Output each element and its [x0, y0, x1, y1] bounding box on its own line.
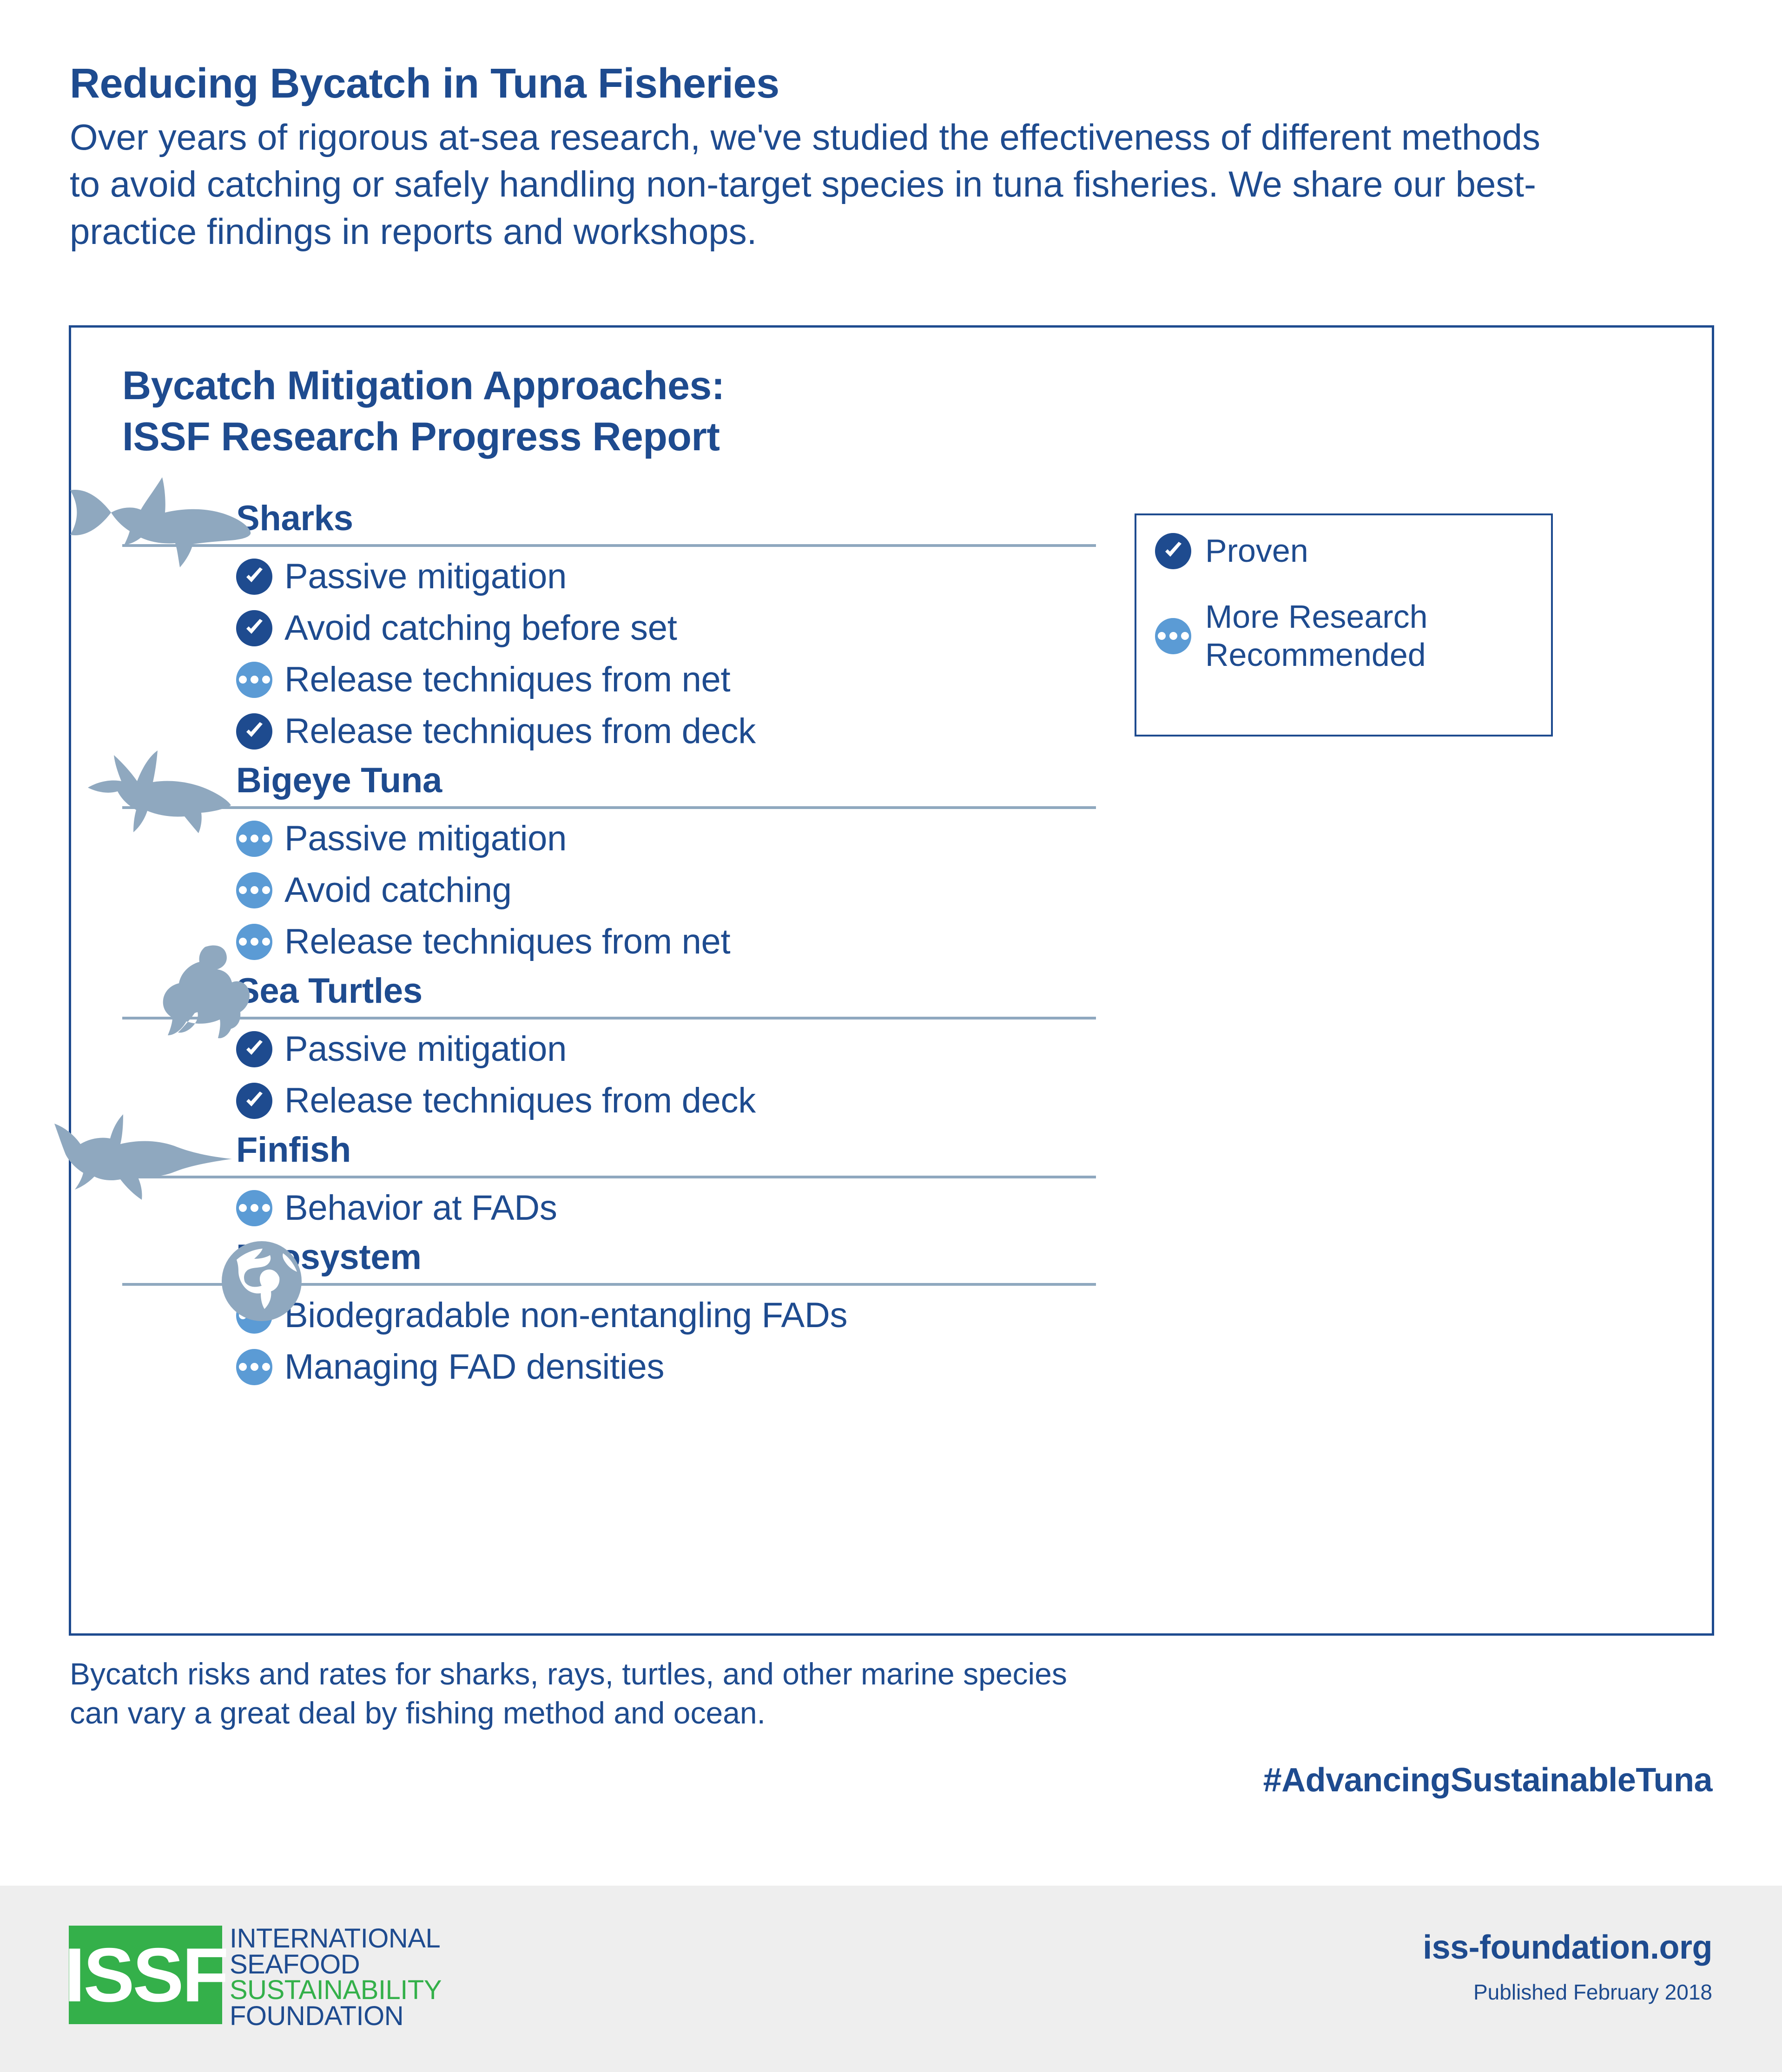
item-label: Release techniques from deck [284, 1080, 756, 1121]
intro-section: Reducing Bycatch in Tuna Fisheries Over … [70, 60, 1604, 255]
species-header-finfish: Finfish [71, 1126, 1712, 1182]
list-item: Behavior at FADs [71, 1182, 1712, 1234]
item-label: Avoid catching [284, 870, 512, 910]
species-block-finfish: Finfish Behavior at FADs [71, 1126, 1712, 1234]
list-item: Avoid catching [71, 864, 1712, 916]
marlin-icon [53, 1112, 248, 1209]
item-label: Biodegradable non-entangling FADs [284, 1295, 847, 1335]
item-label: Behavior at FADs [284, 1188, 557, 1228]
species-header-sea-turtles: Sea Turtles [71, 967, 1712, 1023]
item-label: Release techniques from net [284, 659, 730, 700]
tuna-icon [85, 749, 234, 842]
species-header-sharks: Sharks [71, 495, 1712, 551]
three-dots [239, 1363, 270, 1371]
item-label: Managing FAD densities [284, 1347, 664, 1387]
shark-icon [66, 472, 252, 579]
species-block-sea-turtles: Sea Turtles Passive mitigation Release t… [71, 967, 1712, 1126]
progress-report-panel: Bycatch Mitigation Approaches: ISSF Rese… [69, 325, 1714, 1636]
logo-word-foundation: FOUNDATION [230, 2003, 442, 2029]
species-name: Bigeye Tuna [236, 760, 442, 801]
list-item: Passive mitigation [71, 551, 1712, 602]
species-name: Finfish [236, 1130, 351, 1170]
item-label: Passive mitigation [284, 818, 567, 859]
species-name: Sharks [236, 498, 353, 539]
item-label: Passive mitigation [284, 556, 567, 597]
list-item: Biodegradable non-entangling FADs [71, 1289, 1712, 1341]
list-item: Managing FAD densities [71, 1341, 1712, 1393]
ellipsis-circle-icon [236, 821, 272, 857]
issf-logo: ISSF INTERNATIONAL SEAFOOD SUSTAINABILIT… [69, 1926, 442, 2029]
website-link[interactable]: iss-foundation.org [1423, 1928, 1712, 1967]
intro-paragraph: Over years of rigorous at-sea research, … [70, 114, 1571, 255]
list-item: Release techniques from net [71, 916, 1712, 967]
check-circle-icon [236, 713, 272, 750]
item-label: Passive mitigation [284, 1029, 567, 1069]
infographic-page: Reducing Bycatch in Tuna Fisheries Over … [0, 0, 1782, 2072]
species-list: Sharks Passive mitigation Avoid catching… [71, 495, 1712, 1393]
divider [122, 1176, 1096, 1178]
species-header-ecosystem: Ecosystem [71, 1234, 1712, 1289]
species-block-bigeye-tuna: Bigeye Tuna Passive mitigation Avoid cat… [71, 757, 1712, 967]
list-item: Release techniques from net [71, 654, 1712, 705]
footer: ISSF INTERNATIONAL SEAFOOD SUSTAINABILIT… [0, 1886, 1782, 2072]
divider [122, 1017, 1096, 1020]
item-label: Release techniques from net [284, 921, 730, 962]
issf-logo-wordmark: INTERNATIONAL SEAFOOD SUSTAINABILITY FOU… [230, 1926, 442, 2029]
three-dots [239, 835, 270, 842]
caption-text: Bycatch risks and rates for sharks, rays… [70, 1654, 1092, 1733]
ellipsis-circle-icon [236, 662, 272, 698]
page-title: Reducing Bycatch in Tuna Fisheries [70, 60, 1604, 107]
list-item: Release techniques from deck [71, 1075, 1712, 1126]
three-dots [239, 886, 270, 894]
list-item: Avoid catching before set [71, 602, 1712, 654]
hashtag: #AdvancingSustainableTuna [1263, 1761, 1712, 1799]
published-date: Published February 2018 [1423, 1980, 1712, 2005]
item-label: Release techniques from deck [284, 711, 756, 751]
check-circle-icon [236, 610, 272, 646]
logo-word-international: INTERNATIONAL [230, 1926, 442, 1952]
species-block-sharks: Sharks Passive mitigation Avoid catching… [71, 495, 1712, 757]
list-item: Passive mitigation [71, 813, 1712, 864]
list-item: Passive mitigation [71, 1023, 1712, 1075]
turtle-icon [150, 942, 257, 1059]
species-name: Sea Turtles [236, 971, 422, 1011]
species-block-ecosystem: Ecosystem Biodegradable non-entangling F… [71, 1234, 1712, 1393]
ellipsis-circle-icon [236, 1349, 272, 1385]
logo-word-seafood: SEAFOOD [230, 1952, 442, 1978]
list-item: Release techniques from deck [71, 705, 1712, 757]
species-header-bigeye-tuna: Bigeye Tuna [71, 757, 1712, 813]
footer-meta: iss-foundation.org Published February 20… [1423, 1928, 1712, 2005]
panel-title: Bycatch Mitigation Approaches: ISSF Rese… [122, 360, 725, 462]
divider [122, 544, 1096, 547]
item-label: Avoid catching before set [284, 608, 677, 648]
globe-icon [220, 1239, 304, 1323]
issf-logo-mark: ISSF [69, 1926, 222, 2024]
three-dots [239, 676, 270, 684]
ellipsis-circle-icon [236, 872, 272, 908]
divider [122, 806, 1096, 809]
logo-word-sustainability: SUSTAINABILITY [230, 1977, 442, 2003]
